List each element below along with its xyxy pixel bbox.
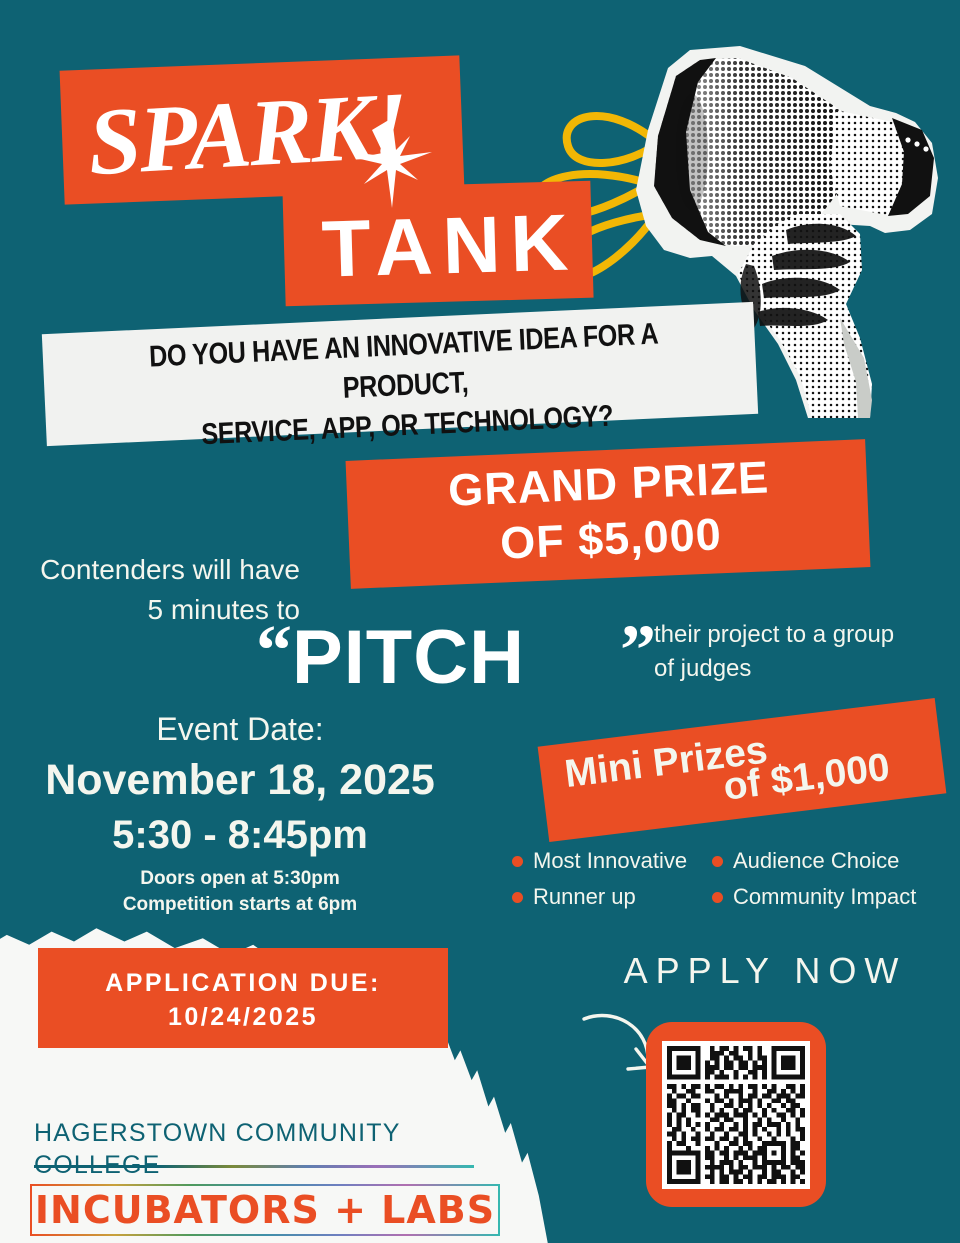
prize-label: Community Impact — [733, 882, 916, 912]
list-item: Audience Choice — [712, 846, 952, 876]
logo-wordmark: INCUBATORS + LABS — [35, 1188, 495, 1232]
contenders-line-1: Contenders will have — [10, 550, 300, 590]
spark-starburst-icon — [356, 118, 432, 208]
event-details: Event Date: November 18, 2025 5:30 - 8:4… — [10, 706, 470, 918]
apply-now-cta: APPLY NOW — [600, 948, 930, 994]
bullet-dot-icon — [712, 892, 723, 903]
spark-text: SPARK — [85, 74, 374, 196]
event-note-1: Doors open at 5:30pm — [10, 866, 470, 892]
spark-tank-flyer: SPARK! TANK DO YOU HAVE AN INNOVATIVE ID… — [0, 0, 960, 1243]
qr-code-icon[interactable] — [662, 1041, 810, 1189]
application-due-label: APPLICATION DUE: — [38, 966, 448, 1000]
event-date-label: Event Date: — [10, 706, 470, 752]
list-item: Community Impact — [712, 882, 952, 912]
qr-code-card[interactable] — [646, 1022, 826, 1207]
grand-prize-text: GRAND PRIZE OF $5,000 — [358, 446, 863, 587]
hcc-logo: HAGERSTOWN COMMUNITY COLLEGE INCUBATORS … — [30, 1117, 500, 1236]
quote-open: “ — [256, 614, 292, 686]
event-date-value: November 18, 2025 — [10, 752, 470, 808]
logo-college-name: HAGERSTOWN COMMUNITY COLLEGE — [30, 1117, 500, 1181]
pitch-tail: their project to a group of judges — [654, 618, 954, 686]
quote-close: ” — [620, 614, 656, 686]
mini-prizes-list: Most Innovative Audience Choice Runner u… — [512, 846, 952, 912]
bullet-dot-icon — [512, 892, 523, 903]
pitch-tail-line-1: their project to a group — [654, 618, 954, 652]
list-item: Runner up — [512, 882, 712, 912]
prize-label: Runner up — [533, 882, 636, 912]
pitch-word: PITCH — [292, 612, 525, 704]
event-time-value: 5:30 - 8:45pm — [10, 808, 470, 862]
prize-label: Most Innovative — [533, 846, 687, 876]
bullet-dot-icon — [712, 856, 723, 867]
logo-gradient-underline — [34, 1165, 474, 1168]
event-note-2: Competition starts at 6pm — [10, 892, 470, 918]
list-item: Most Innovative — [512, 846, 712, 876]
pitch-tail-line-2: of judges — [654, 652, 954, 686]
tank-wordmark: TANK — [299, 192, 602, 300]
pitch-row: “ PITCH ” their project to a group of ju… — [250, 610, 950, 705]
application-due-box: APPLICATION DUE: 10/24/2025 — [38, 948, 448, 1048]
logo-wordmark-box: INCUBATORS + LABS — [30, 1184, 500, 1236]
application-due-date: 10/24/2025 — [38, 1000, 448, 1034]
prize-label: Audience Choice — [733, 846, 899, 876]
bullet-dot-icon — [512, 856, 523, 867]
